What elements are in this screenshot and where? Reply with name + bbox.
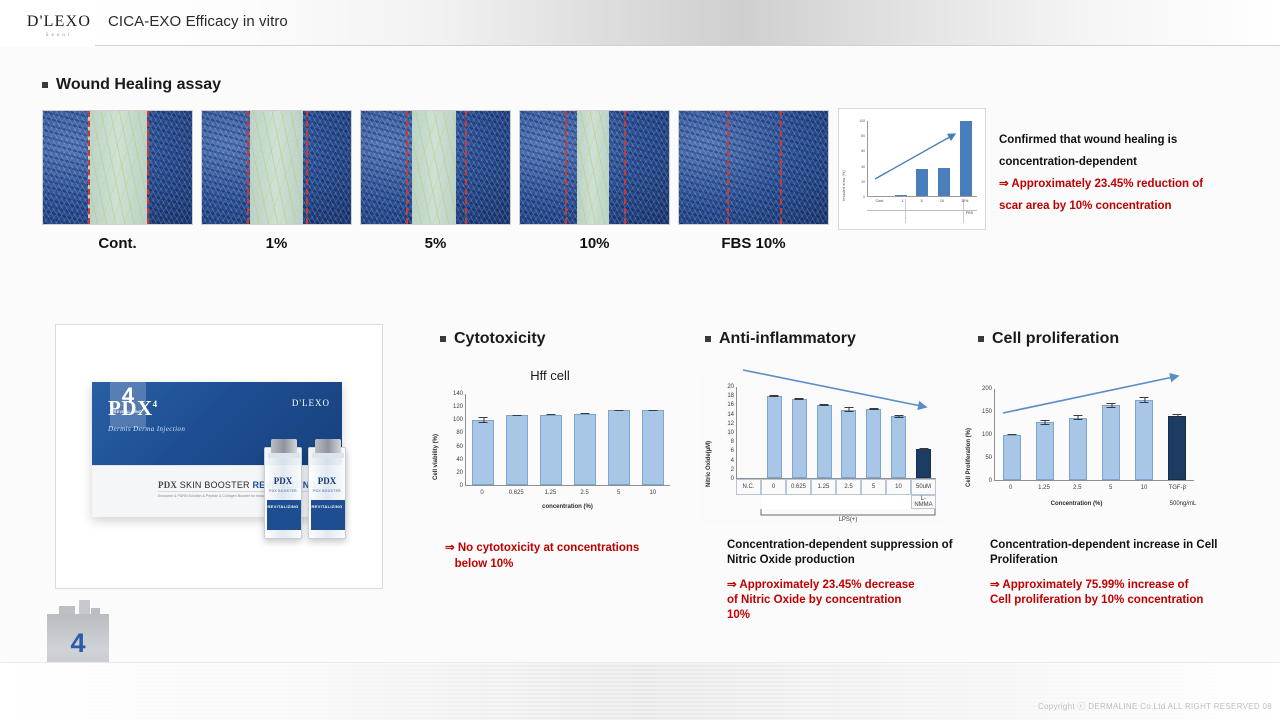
wound-healing-item: 10% [519, 110, 670, 252]
ytick-label: 140 [453, 391, 463, 397]
brand-logo: D'LEXO Seoul [20, 14, 98, 38]
section-heading-wound-healing: Wound Healing assay [42, 76, 221, 94]
xtick-label: 5 [602, 490, 636, 498]
ytick-label: 100 [859, 119, 865, 123]
product-brand-sup: 4 [153, 399, 158, 409]
reference-line [727, 111, 729, 224]
wound-healing-caption: 1% [201, 235, 352, 252]
reference-line [247, 111, 249, 224]
ytick-label: 200 [982, 386, 992, 392]
reference-line [306, 111, 308, 224]
wound-healing-image-row: Cont.1%5%10%FBS 10% [42, 110, 829, 252]
wound-healing-caption: FBS 10% [678, 235, 829, 252]
chart-bar [891, 416, 906, 478]
note-line-highlight: scar area by 10% concentration [999, 196, 1239, 218]
ytick-label: 20 [727, 384, 734, 390]
ytick-label: 4 [731, 458, 734, 464]
cell-proliferation-note: Concentration-dependent increase in Cell… [990, 538, 1235, 608]
xtick-label: 0.625 [499, 490, 533, 498]
chart-bar [866, 409, 881, 478]
xtick-cell-sub [886, 495, 911, 509]
chart-bar [895, 195, 907, 197]
wound-healing-micrograph [519, 110, 670, 225]
xtick-cell-sub: L-NMMA [911, 495, 936, 509]
xtick-cell-sub [811, 495, 836, 509]
xtick-label: 10 [636, 490, 670, 498]
xtick-label: 1 [901, 199, 903, 203]
section-label: Anti-inflammatory [719, 330, 856, 348]
chart-category-grid: N.C.00.6251.252.551050uM [736, 479, 936, 495]
xtick-cell: 5 [861, 479, 886, 495]
xtick-cell: 2.5 [836, 479, 861, 495]
product-vial: PDX PDX BOOSTER REVITALIZING [264, 447, 302, 539]
chart-anti-inflammatory: Nitric Oxide(µM) 02468101214161820 N.C.0… [700, 375, 950, 525]
chart-bar [916, 449, 931, 478]
xtick-cell-sub [736, 495, 761, 509]
ytick-label: 0 [989, 478, 992, 484]
chart-bar [608, 410, 630, 485]
cytotoxicity-note: ⇒ No cytotoxicity at concentrations belo… [445, 541, 675, 572]
mini-chart-category-sub: FBS [966, 211, 973, 215]
reference-line [465, 111, 467, 224]
chart-bar [506, 415, 528, 485]
vial-neck [312, 453, 344, 458]
chart-bars [466, 394, 670, 485]
section-heading-cytotoxicity: Cytotoxicity [440, 330, 546, 348]
wound-healing-caption: Cont. [42, 235, 193, 252]
xtick-cell: 50uM [911, 479, 936, 495]
note-line-highlight: of Nitric Oxide by concentration [727, 593, 957, 608]
ytick-label: 8 [731, 439, 734, 445]
falling-arrow-icon [740, 367, 940, 417]
ytick-label: 0 [731, 476, 734, 482]
product-box-bottom: PDX SKIN BOOSTER REVITALIZING Exosome & … [92, 465, 342, 517]
bullet-icon [978, 336, 984, 342]
error-bar [1007, 434, 1016, 436]
wound-healing-micrograph [42, 110, 193, 225]
error-bar [649, 410, 658, 411]
ytick-label: 6 [731, 448, 734, 454]
xtick-label: 2.5 [1061, 485, 1094, 493]
chart-xlabel: Concentration (%) [994, 501, 1159, 507]
chart-bar-group [472, 394, 494, 485]
ytick-label: 0 [863, 195, 865, 199]
product-line-1b: SKIN BOOSTER [177, 480, 252, 490]
chart-bar [574, 414, 596, 486]
chart-bar [1069, 418, 1087, 480]
wound-healing-item: Cont. [42, 110, 193, 252]
product-line-1a: PDX [158, 480, 177, 490]
ytick-label: 16 [727, 402, 734, 408]
reference-line [147, 111, 149, 224]
xtick-label: 10 [940, 199, 944, 203]
ytick-label: 80 [456, 430, 463, 436]
chart-bar-group [642, 394, 664, 485]
vial-neck [268, 453, 300, 458]
chart-xlabel: LPS(+) [760, 517, 936, 523]
note-line: concentration-dependent [999, 152, 1239, 174]
chart-plot [465, 394, 670, 486]
chart-cytotoxicity: Hff cell Cell viability (%) 020406080100… [425, 368, 675, 518]
xtick-label: TGF-β [1161, 485, 1194, 493]
error-bar [513, 415, 522, 417]
ytick-label: 50 [985, 455, 992, 461]
note-line-highlight: Cell proliferation by 10% concentration [990, 593, 1235, 608]
chart-yticks: 02468101214161820 [712, 387, 734, 479]
ytick-label: 12 [727, 421, 734, 427]
xtick-cell-sub [836, 495, 861, 509]
product-box: PDX4 Dermis Derma Injection D'LEXO 4 REV… [92, 382, 342, 517]
product-vial: PDX PDX BOOSTER REVITALIZING [308, 447, 346, 539]
vial-cap [271, 439, 297, 453]
error-bar [479, 417, 488, 424]
chart-title: Hff cell [425, 368, 675, 383]
xtick-cell: 0.625 [786, 479, 811, 495]
reference-line [780, 111, 782, 224]
reference-line [406, 111, 408, 224]
section-heading-cell-proliferation: Cell proliferation [978, 330, 1119, 348]
bullet-icon [42, 82, 48, 88]
xtick-cell-sub [861, 495, 886, 509]
reference-line [565, 111, 567, 224]
ytick-label: 60 [456, 444, 463, 450]
badge-number: 4 [47, 630, 109, 657]
ytick-label: 80 [861, 134, 865, 138]
mini-chart-yticks: 020406080100 [849, 121, 865, 197]
vial-brand: PDX [265, 476, 301, 486]
wound-healing-item: 1% [201, 110, 352, 252]
wound-healing-micrograph [360, 110, 511, 225]
ytick-label: 14 [727, 412, 734, 418]
xtick-label: 1.25 [533, 490, 567, 498]
chart-bar [1036, 422, 1054, 480]
ytick-label: 100 [453, 417, 463, 423]
xtick-label: 5 [921, 199, 923, 203]
xtick-label: 5 [1094, 485, 1127, 493]
chart-xlabel: concentration (%) [465, 504, 670, 510]
chart-bar [472, 420, 494, 485]
chart-xcategories: 00.6251.252.5510 [465, 490, 670, 498]
anti-inflammatory-note: Concentration-dependent suppression of N… [727, 538, 957, 623]
section-label: Cell proliferation [992, 330, 1119, 348]
ytick-label: 150 [982, 409, 992, 415]
ytick-label: 0 [460, 483, 463, 489]
cell-texture [679, 111, 828, 224]
chart-bar-group [574, 394, 596, 485]
error-bar [919, 448, 928, 450]
wound-healing-micrograph [678, 110, 829, 225]
rising-arrow-icon [1000, 371, 1200, 417]
bracket-icon [760, 509, 936, 517]
ytick-label: 10 [727, 430, 734, 436]
brand-logo-main: D'LEXO [20, 14, 98, 30]
ytick-label: 40 [861, 165, 865, 169]
ytick-label: 18 [727, 393, 734, 399]
vial-sub: PDX BOOSTER [265, 489, 301, 493]
reference-line [624, 111, 626, 224]
note-line: Proliferation [990, 553, 1235, 568]
xtick-label: 0 [465, 490, 499, 498]
page-title: CICA-EXO Efficacy in vitro [108, 13, 288, 30]
xtick-cell: 1.25 [811, 479, 836, 495]
wound-healing-caption: 10% [519, 235, 670, 252]
product-box-top: PDX4 Dermis Derma Injection D'LEXO 4 REV… [92, 382, 342, 465]
product-number: 4 [122, 385, 134, 407]
scratch-gap [88, 110, 148, 225]
product-image-card: PDX4 Dermis Derma Injection D'LEXO 4 REV… [55, 324, 383, 589]
chart-bar [642, 410, 664, 485]
note-line-highlight: ⇒ Approximately 23.45% reduction of [999, 174, 1239, 196]
gap-outline [250, 110, 304, 225]
chart-xcategories: 01.252.5510TGF-β [994, 485, 1194, 493]
wound-healing-item: 5% [360, 110, 511, 252]
ytick-label: 20 [456, 470, 463, 476]
xtick-cell-sub [761, 495, 786, 509]
section-heading-anti-inflammatory: Anti-inflammatory [705, 330, 856, 348]
note-line: Nitric Oxide production [727, 553, 957, 568]
xtick-label: 10 [1127, 485, 1160, 493]
scratch-gap [250, 110, 304, 225]
note-line-highlight: ⇒ Approximately 23.45% decrease [727, 578, 957, 593]
wound-healing-note: Confirmed that wound healing is concentr… [999, 130, 1239, 217]
wound-healing-item: FBS 10% [678, 110, 829, 252]
ytick-label: 60 [861, 149, 865, 153]
chart-bar [540, 415, 562, 485]
slide-footer: Copyright ⓒ DERMALINE Co.Ltd ALL RIGHT R… [0, 662, 1280, 720]
chart-yticks: 020406080100120140 [439, 394, 463, 486]
note-line-highlight: ⇒ Approximately 75.99% increase of [990, 578, 1235, 593]
copyright-text: Copyright ⓒ DERMALINE Co.Ltd ALL RIGHT R… [1038, 701, 1272, 712]
slide-header: D'LEXO Seoul CICA-EXO Efficacy in vitro [0, 0, 1280, 46]
rising-arrow-icon [871, 127, 963, 185]
ytick-label: 120 [453, 404, 463, 410]
note-line: Concentration-dependent increase in Cell [990, 538, 1235, 553]
xtick-cell: 10 [886, 479, 911, 495]
gap-outline [412, 110, 457, 225]
vial-label: REVITALIZING [265, 504, 301, 509]
note-line-highlight: ⇒ No cytotoxicity at concentrations [445, 541, 675, 557]
xtick-cell-sub [786, 495, 811, 509]
error-bar [1040, 420, 1049, 425]
wound-healing-micrograph [201, 110, 352, 225]
note-line-highlight: below 10% [445, 557, 675, 573]
gap-outline [577, 110, 610, 225]
mini-chart-ylabel: Invaded area (%) [842, 149, 846, 201]
note-line-highlight: 10% [727, 608, 957, 623]
vial-cap [315, 439, 341, 453]
chart-cell-proliferation: Cell Proliferation (%) 050100150200 01.2… [960, 375, 1210, 515]
error-bar [615, 410, 624, 411]
mini-chart-categories: Cont.151010% [867, 199, 977, 211]
note-line: Confirmed that wound healing is [999, 130, 1239, 152]
xtick-label: 10% [961, 199, 968, 203]
scratch-gap [577, 110, 610, 225]
bullet-icon [705, 336, 711, 342]
ytick-label: 100 [982, 432, 992, 438]
chart-bar [1168, 416, 1186, 480]
section-label: Cytotoxicity [454, 330, 546, 348]
chart-category-grid-sub: L-NMMA [736, 495, 936, 509]
xtick-cell: N.C. [736, 479, 761, 495]
product-number-label: REVITALIZING [114, 410, 142, 414]
vial-brand: PDX [309, 476, 345, 486]
product-maker-logo: D'LEXO [292, 398, 330, 408]
error-bar [581, 413, 590, 415]
note-line: Concentration-dependent suppression of [727, 538, 957, 553]
ytick-label: 2 [731, 467, 734, 473]
chart-bar-group [608, 394, 630, 485]
reference-line [88, 111, 90, 224]
chart-bar [1003, 435, 1021, 481]
chart-bar-group [506, 394, 528, 485]
wound-healing-summary-chart: Invaded area (%) 020406080100 Cont.15101… [838, 108, 986, 230]
section-label: Wound Healing assay [56, 76, 221, 94]
vial-sub: PDX BOOSTER [309, 489, 345, 493]
chart-bar [841, 410, 856, 478]
xtick-label: 2.5 [567, 490, 601, 498]
chart-xcategory-sub: 500ng/mL [1156, 501, 1210, 507]
ytick-label: 40 [456, 457, 463, 463]
ytick-label: 20 [861, 180, 865, 184]
wound-healing-caption: 5% [360, 235, 511, 252]
gap-outline [88, 110, 148, 225]
product-number-badge: 4 REVITALIZING [110, 370, 146, 428]
brand-logo-sub: Seoul [20, 33, 98, 38]
xtick-label: 1.25 [1027, 485, 1060, 493]
scratch-gap [412, 110, 457, 225]
xtick-label: 0 [994, 485, 1027, 493]
bullet-icon [440, 336, 446, 342]
slide: D'LEXO Seoul CICA-EXO Efficacy in vitro … [0, 0, 1280, 720]
error-bar [547, 414, 556, 415]
chart-yticks: 050100150200 [970, 389, 992, 481]
xtick-label: Cont. [876, 199, 885, 203]
chart-bar-group [540, 394, 562, 485]
vial-label: REVITALIZING [309, 504, 345, 509]
xtick-cell: 0 [761, 479, 786, 495]
